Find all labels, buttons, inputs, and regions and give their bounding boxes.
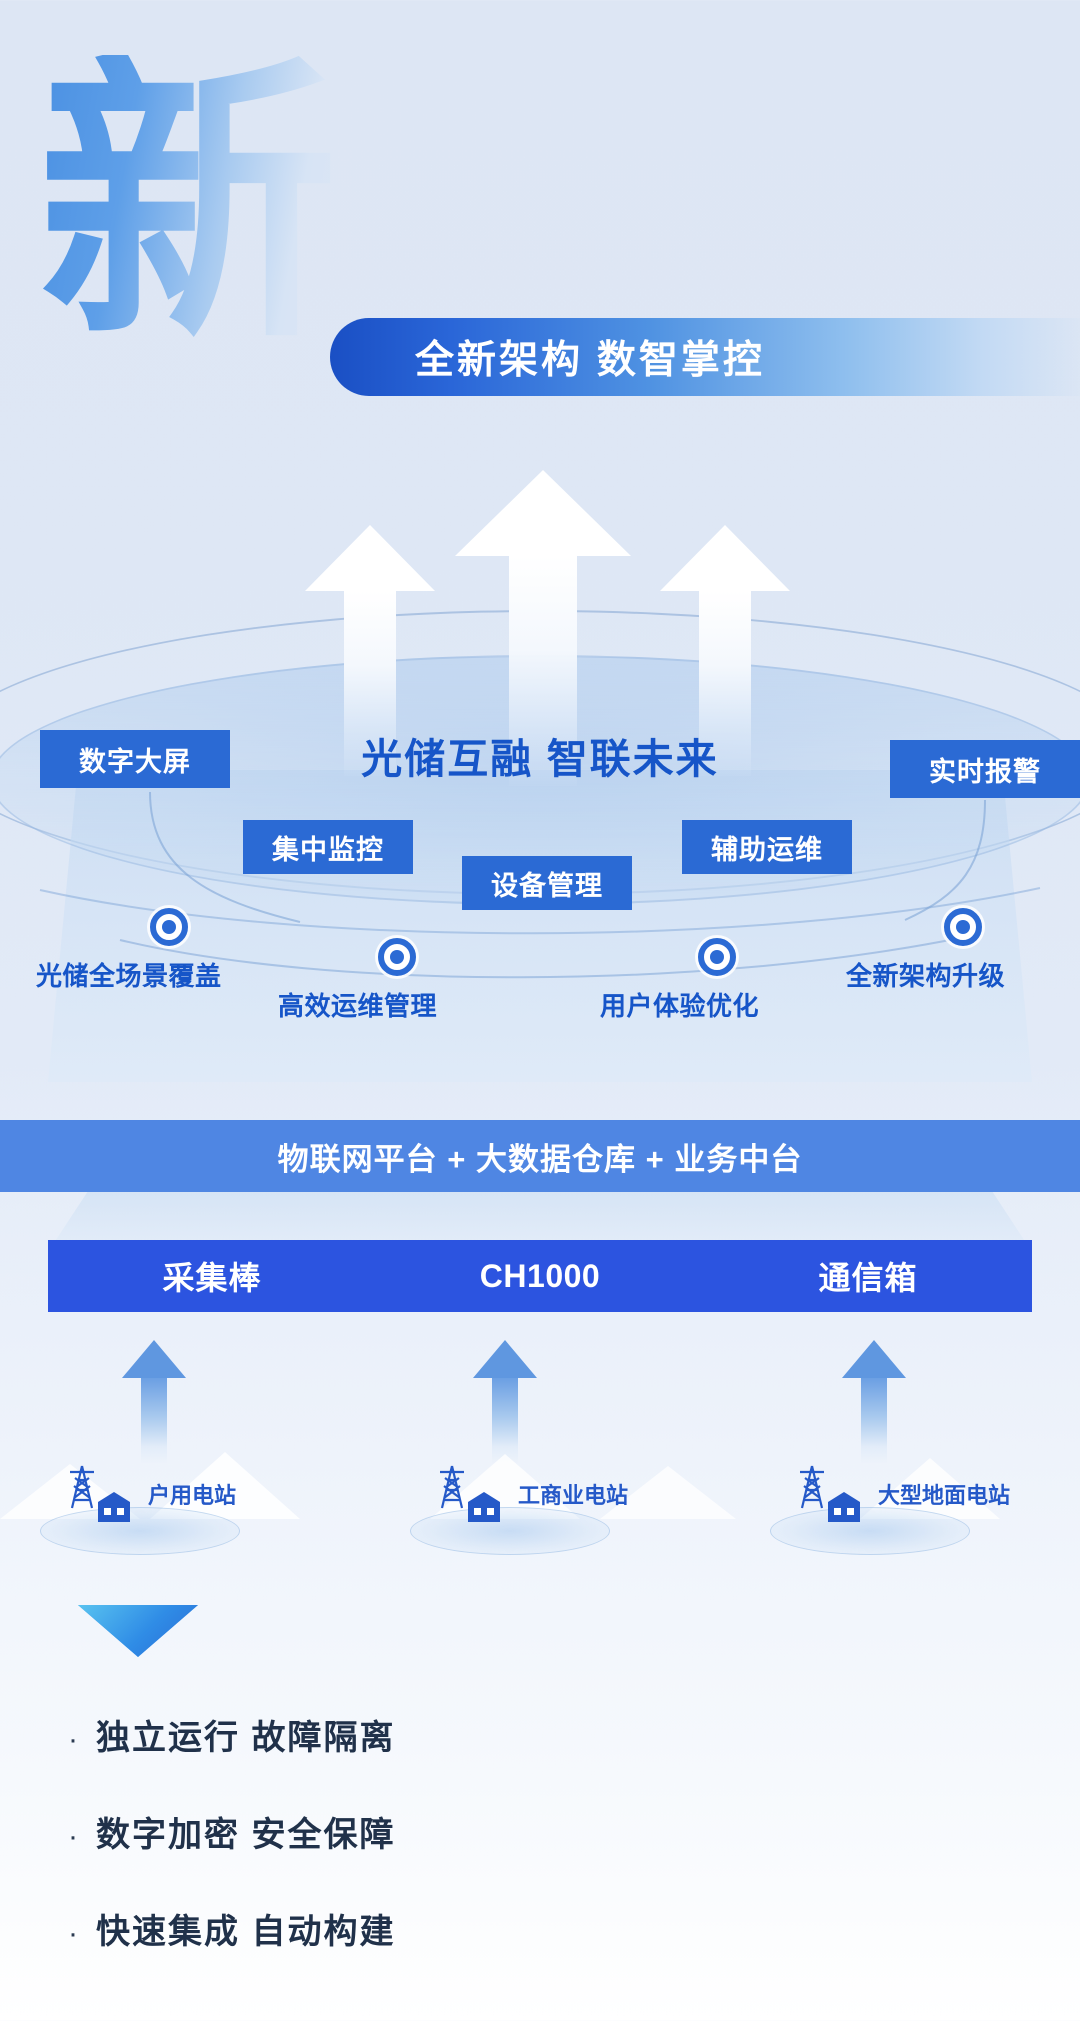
- station-label: 户用电站: [148, 1478, 236, 1510]
- bullet-marker-icon: ·: [68, 1919, 78, 1949]
- feature-full-scene-coverage: 光储全场景覆盖: [36, 908, 222, 993]
- station-label: 工商业电站: [518, 1478, 628, 1510]
- benefit-label: 独立运行 故障隔离: [96, 1710, 395, 1759]
- hero-section: 新 全新架构 数智掌控: [0, 0, 1080, 430]
- station-commercial: 工商业电站: [432, 1462, 628, 1524]
- feature-dot-icon: [378, 938, 416, 976]
- station-residential: 户用电站: [62, 1462, 236, 1524]
- page-title: 全新架构 数智掌控: [415, 329, 765, 385]
- feature-ux-optimization: 用户体验优化: [600, 938, 759, 1023]
- feature-dot-icon: [944, 908, 982, 946]
- feature-dot-icon: [150, 908, 188, 946]
- platform-stage: 光储互融 智联未来 数字大屏 实时报警 集中监控 设备管理 辅助运维 光储全场景…: [0, 470, 1080, 1110]
- benefit-item-encryption: · 数字加密 安全保障: [68, 1807, 968, 1856]
- badge-assisted-ops[interactable]: 辅助运维: [682, 820, 852, 874]
- device-bar: 采集棒 CH1000 通信箱: [48, 1240, 1032, 1312]
- benefits-section: · 独立运行 故障隔离 · 数字加密 安全保障 · 快速集成 自动构建: [0, 1580, 1080, 2021]
- badge-realtime-alarm[interactable]: 实时报警: [890, 740, 1080, 798]
- power-station-icon: [62, 1462, 140, 1524]
- benefit-item-fast-integration: · 快速集成 自动构建: [68, 1904, 968, 1953]
- device-tier: 采集棒 CH1000 通信箱: [0, 1192, 1080, 1452]
- feature-new-architecture: 全新架构升级: [846, 908, 1005, 993]
- power-station-icon: [792, 1462, 870, 1524]
- badge-central-monitor[interactable]: 集中监控: [243, 820, 413, 874]
- benefit-label: 数字加密 安全保障: [96, 1807, 395, 1856]
- badge-device-management[interactable]: 设备管理: [462, 856, 632, 910]
- feature-label: 光储全场景覆盖: [36, 956, 222, 993]
- bullet-marker-icon: ·: [68, 1725, 78, 1755]
- device-cell-collector-stick[interactable]: 采集棒: [48, 1253, 376, 1299]
- feature-label: 高效运维管理: [278, 986, 437, 1023]
- benefit-item-independent-run: · 独立运行 故障隔离: [68, 1710, 968, 1759]
- feature-efficient-ops: 高效运维管理: [278, 938, 437, 1023]
- feature-dot-icon: [698, 938, 736, 976]
- hero-big-character: 新: [38, 55, 338, 355]
- hero-title-banner: 全新架构 数智掌控: [330, 318, 1080, 396]
- feature-label: 用户体验优化: [600, 986, 759, 1023]
- platform-band-label: 物联网平台 + 大数据仓库 + 业务中台: [278, 1134, 803, 1179]
- feature-label: 全新架构升级: [846, 956, 1005, 993]
- device-cell-ch1000[interactable]: CH1000: [376, 1258, 704, 1295]
- badge-digital-screen[interactable]: 数字大屏: [40, 730, 230, 788]
- station-utility: 大型地面电站: [792, 1462, 1010, 1524]
- platform-band: 物联网平台 + 大数据仓库 + 业务中台: [0, 1120, 1080, 1192]
- power-station-icon: [432, 1462, 510, 1524]
- station-label: 大型地面电站: [878, 1478, 1010, 1510]
- down-triangle-icon: [78, 1605, 198, 1657]
- benefit-label: 快速集成 自动构建: [96, 1904, 395, 1953]
- benefits-list: · 独立运行 故障隔离 · 数字加密 安全保障 · 快速集成 自动构建: [68, 1710, 968, 2001]
- bullet-marker-icon: ·: [68, 1822, 78, 1852]
- device-cell-comm-box[interactable]: 通信箱: [704, 1253, 1032, 1299]
